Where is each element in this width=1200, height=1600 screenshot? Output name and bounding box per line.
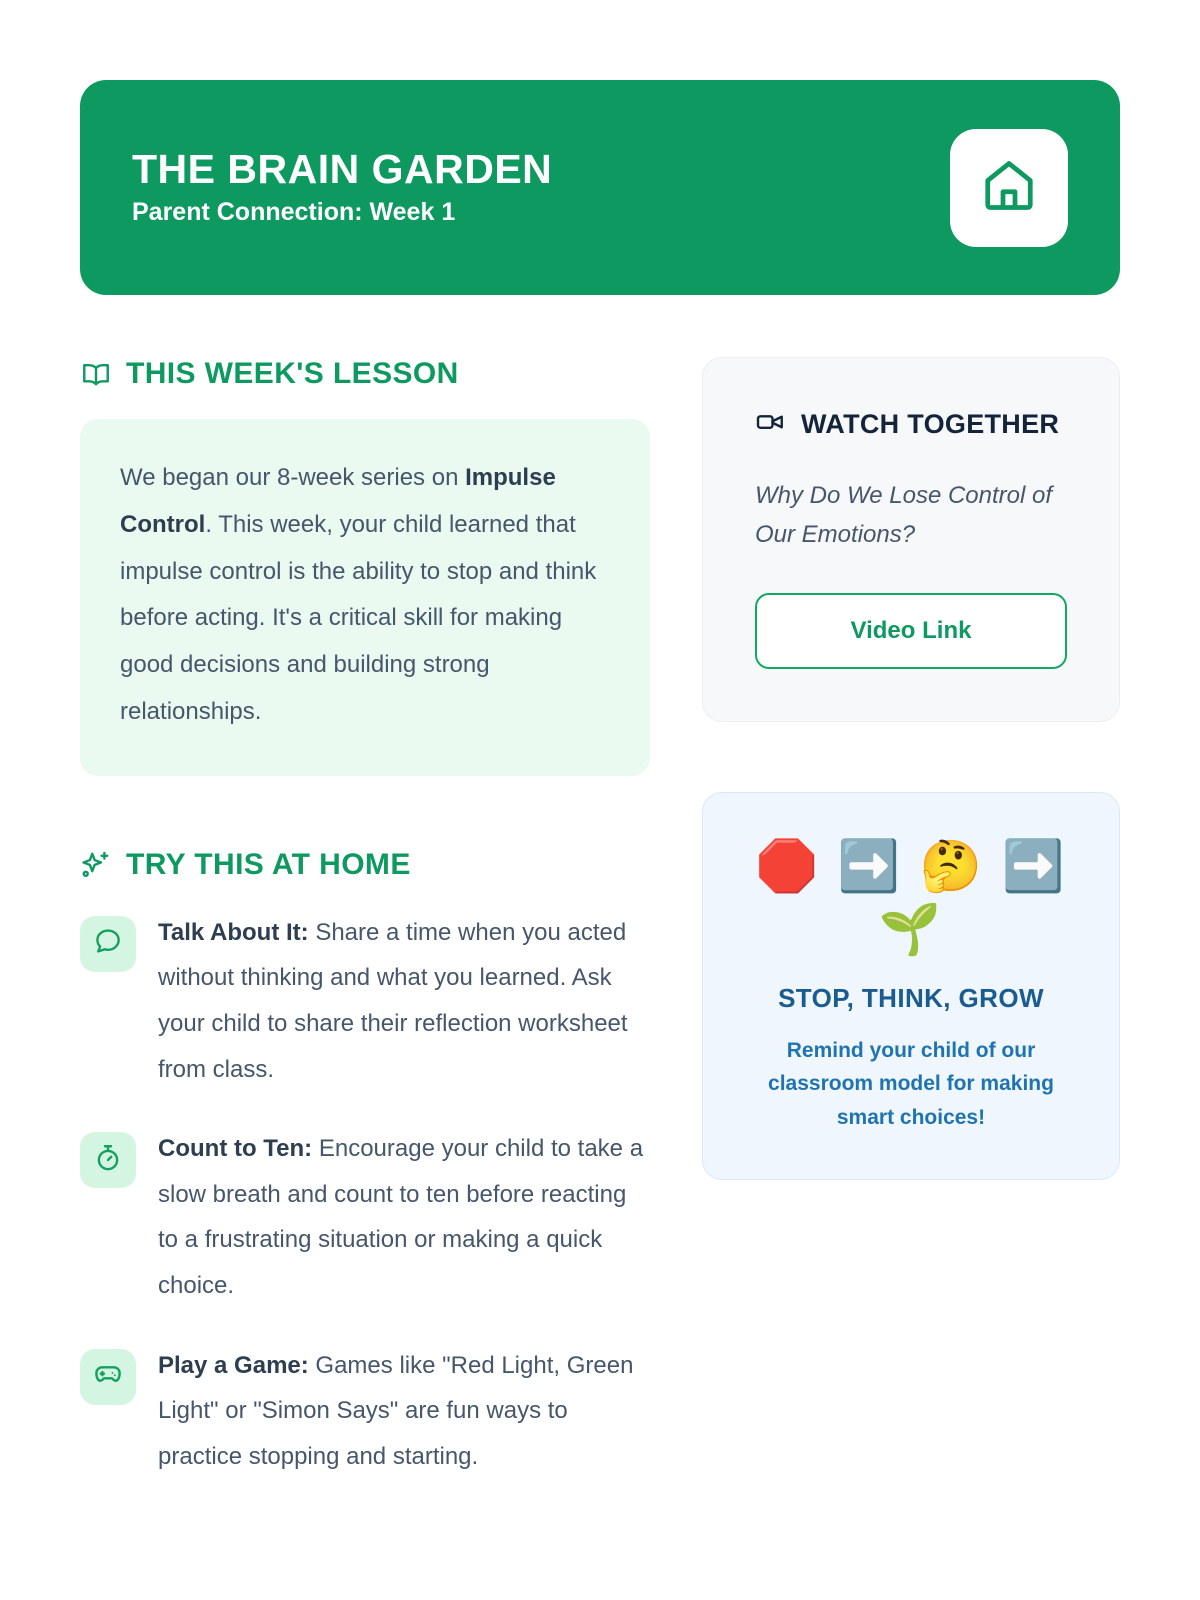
activity-title: Play a Game: (158, 1352, 309, 1379)
activity-item-count-to-ten: Count to Ten: Encourage your child to ta… (80, 1126, 650, 1308)
watch-together-title: WATCH TOGETHER (801, 404, 1059, 446)
lesson-heading-label: THIS WEEK'S LESSON (126, 357, 459, 391)
lesson-rest: . This week, your child learned that imp… (120, 511, 596, 725)
video-link-button[interactable]: Video Link (755, 593, 1067, 669)
page-title: THE BRAIN GARDEN (132, 148, 552, 191)
right-column: WATCH TOGETHER Why Do We Lose Control of… (702, 357, 1120, 1513)
gamepad-icon (93, 1359, 123, 1394)
watch-together-card: WATCH TOGETHER Why Do We Lose Control of… (702, 357, 1120, 722)
stop-think-grow-card: 🛑 ➡️ 🤔 ➡️ 🌱 STOP, THINK, GROW Remind you… (702, 792, 1120, 1179)
page-subtitle: Parent Connection: Week 1 (132, 199, 552, 227)
page-header: THE BRAIN GARDEN Parent Connection: Week… (80, 80, 1120, 295)
content-grid: THIS WEEK'S LESSON We began our 8-week s… (80, 357, 1120, 1513)
lesson-body-text: We began our 8-week series on Impulse Co… (120, 455, 610, 736)
video-camera-icon (755, 407, 785, 442)
speech-bubble-icon (93, 926, 123, 961)
watch-video-description: Why Do We Lose Control of Our Emotions? (755, 476, 1067, 555)
activity-icon-badge (80, 916, 136, 972)
lesson-intro: We began our 8-week series on (120, 464, 465, 491)
activity-text: Talk About It: Share a time when you act… (158, 910, 650, 1092)
stopwatch-icon (93, 1143, 123, 1178)
stop-think-grow-subtitle: Remind your child of our classroom model… (743, 1034, 1079, 1135)
sparkles-icon (80, 849, 112, 881)
activity-icon-badge (80, 1132, 136, 1188)
try-heading-label: TRY THIS AT HOME (126, 848, 411, 882)
activity-text: Play a Game: Games like "Red Light, Gree… (158, 1343, 650, 1480)
stop-think-grow-title: STOP, THINK, GROW (743, 980, 1079, 1018)
lesson-card: We began our 8-week series on Impulse Co… (80, 419, 650, 776)
home-button[interactable] (950, 129, 1068, 247)
activity-title: Count to Ten: (158, 1135, 312, 1162)
watch-together-heading: WATCH TOGETHER (755, 404, 1067, 446)
activity-item-talk-about-it: Talk About It: Share a time when you act… (80, 910, 650, 1092)
parent-newsletter-page: THE BRAIN GARDEN Parent Connection: Week… (0, 0, 1200, 1600)
activity-item-play-a-game: Play a Game: Games like "Red Light, Gree… (80, 1343, 650, 1480)
stop-think-grow-emoji: 🛑 ➡️ 🤔 ➡️ 🌱 (743, 835, 1079, 960)
open-book-icon (80, 358, 112, 390)
activity-text: Count to Ten: Encourage your child to ta… (158, 1126, 650, 1308)
activity-icon-badge (80, 1349, 136, 1405)
try-section-heading: TRY THIS AT HOME (80, 848, 650, 882)
left-column: THIS WEEK'S LESSON We began our 8-week s… (80, 357, 650, 1513)
activity-title: Talk About It: (158, 919, 309, 946)
header-text-block: THE BRAIN GARDEN Parent Connection: Week… (132, 148, 552, 227)
lesson-section-heading: THIS WEEK'S LESSON (80, 357, 650, 391)
try-at-home-section: TRY THIS AT HOME Talk About It: Share a … (80, 848, 650, 1514)
home-icon (979, 155, 1039, 220)
